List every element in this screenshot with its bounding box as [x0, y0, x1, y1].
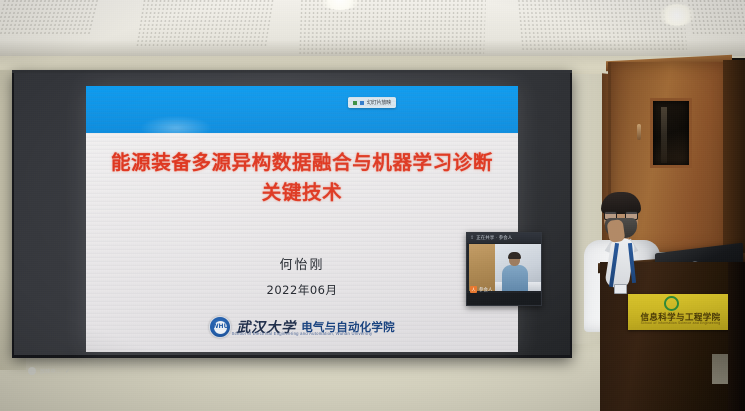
video-conference-title: 正在共享 · 参会人 [476, 235, 512, 241]
conference-room-photo: 放映中... ✓ 幻灯片放映 能源装备多源异构数据融合与机器学习诊断 关键技术 … [0, 0, 745, 411]
cabinet-handle [637, 124, 641, 140]
cabinet-window-panel [650, 98, 692, 168]
share-icon: ⇪ [470, 236, 474, 241]
check-icon: ✓ [65, 368, 70, 375]
presentation-slide: 幻灯片放映 能源装备多源异构数据融合与机器学习诊断 关键技术 何怡刚 2022年… [86, 86, 518, 352]
cabinet-shadow-right [723, 60, 745, 260]
university-logo-block: WHU 武汉大学 电气与自动化学院 School of Electrical E… [86, 312, 518, 342]
video-conference-bottom-bar[interactable] [467, 293, 541, 305]
remote-participant-video[interactable] [469, 244, 541, 291]
video-conference-window[interactable]: ⇪ 正在共享 · 参会人 人 参会人 [466, 232, 542, 306]
podium-sign: 信息科学与工程学院 School of Information Science … [628, 294, 733, 330]
slide-title-line-1: 能源装备多源异构数据融合与机器学习诊断 [86, 148, 518, 178]
toolbar-pen-icon [360, 101, 364, 105]
participant-name-label: 参会人 [479, 287, 492, 293]
university-english-name: School of Electrical Engineering and Aut… [86, 331, 518, 336]
screen-mini-control[interactable]: 放映中... ✓ [28, 365, 90, 377]
slide-title-line-2: 关键技术 [86, 178, 518, 208]
slide-presenter-name: 何怡刚 [86, 254, 518, 273]
participant-avatar-icon: 人 [470, 286, 477, 293]
presenter-id-badge [614, 284, 627, 294]
presenter-hand-holding-device [607, 219, 626, 243]
ceiling-panel [687, 0, 745, 34]
podium-sign-logo-icon [664, 296, 679, 311]
slideshow-toolbar[interactable]: 幻灯片放映 [348, 97, 396, 108]
participant-name-badge: 人 参会人 [470, 286, 492, 293]
screen-control-label: 放映中... [40, 368, 61, 375]
podium-shadow-right [728, 262, 745, 411]
podium-sign-english-text: School of Information Science and Engine… [628, 321, 733, 325]
ceiling-light-icon [659, 4, 695, 26]
video-conference-titlebar[interactable]: ⇪ 正在共享 · 参会人 [467, 233, 541, 243]
toolbar-play-icon [353, 101, 357, 105]
toolbar-label: 幻灯片放映 [367, 99, 391, 106]
screen-control-dot-icon [28, 367, 36, 375]
remote-person-body [502, 265, 528, 291]
slide-header-band [86, 86, 518, 133]
slide-title: 能源装备多源异构数据融合与机器学习诊断 关键技术 [86, 148, 518, 208]
slide-date: 2022年06月 [86, 282, 518, 298]
ceiling-panel [0, 0, 99, 34]
remote-wood-panel [469, 244, 495, 291]
remote-person-hair [508, 252, 521, 259]
